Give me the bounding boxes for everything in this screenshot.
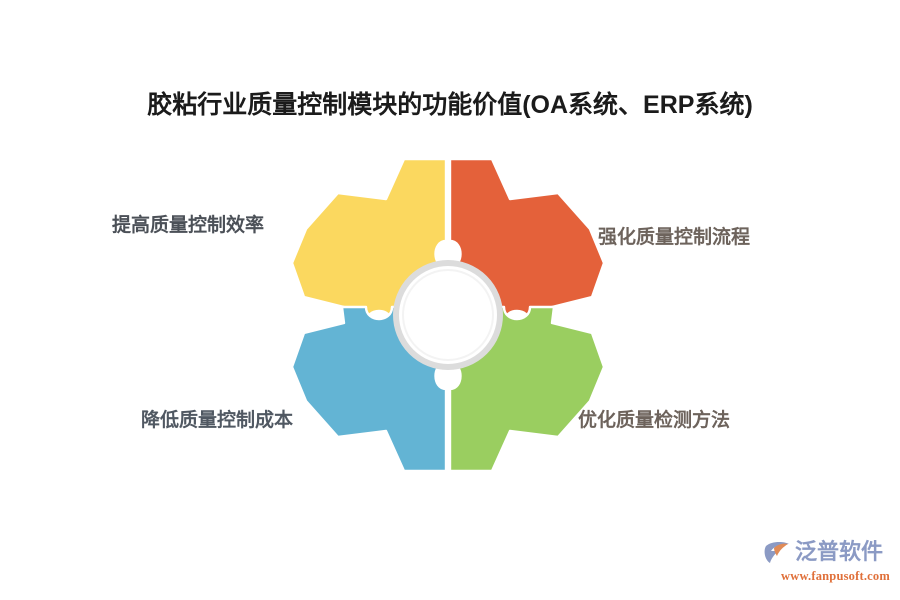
page-title: 胶粘行业质量控制模块的功能价值(OA系统、ERP系统) [0,88,900,122]
center-ring-inner [403,270,493,360]
logo-url-text: www.fanpusoft.com [762,569,890,584]
label-bottom-right: 优化质量检测方法 [578,408,730,434]
label-bottom-left: 降低质量控制成本 [141,408,293,434]
label-top-left: 提高质量控制效率 [112,213,264,239]
logo-brand-text: 泛普软件 [795,537,883,567]
jigsaw-svg [282,155,618,475]
brand-logo[interactable]: 泛普软件 www.fanpusoft.com [762,536,890,586]
label-top-right: 强化质量控制流程 [598,225,750,251]
slide-canvas: 胶粘行业质量控制模块的功能价值(OA系统、ERP系统) 提高质量控制效率 强化质… [0,0,900,600]
logo-row: 泛普软件 [762,536,890,568]
fanpu-swoosh-icon [762,537,792,567]
jigsaw-diagram [282,155,618,475]
